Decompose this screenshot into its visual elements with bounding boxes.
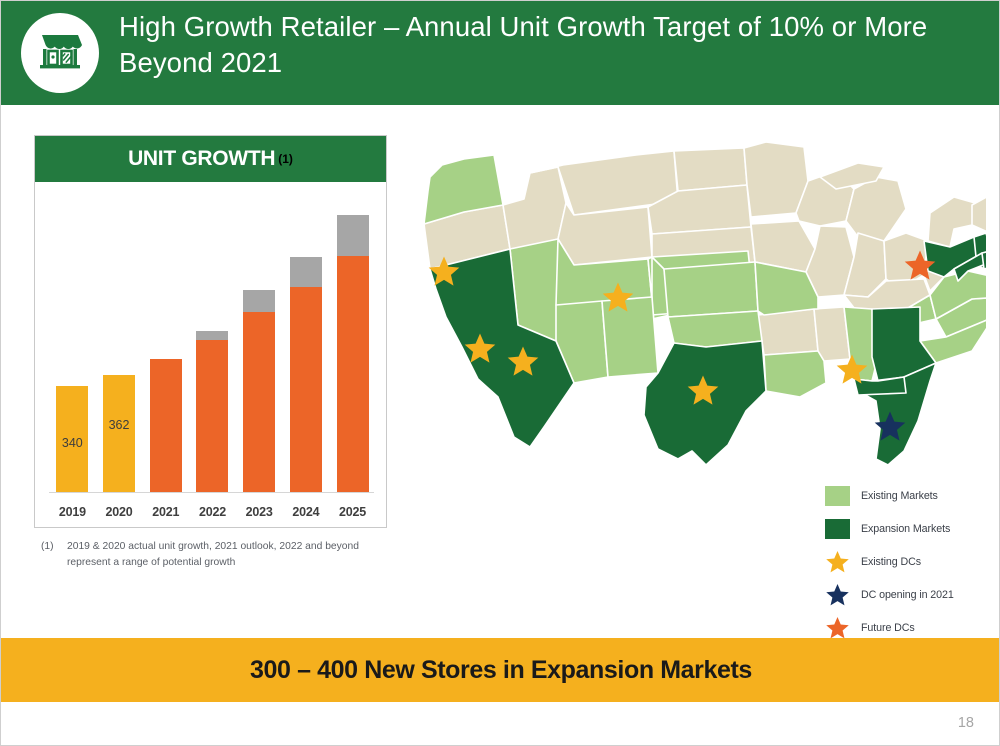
bar-column-2021 [150,190,182,492]
x-axis-labels: 2019 2020 2021 2022 2023 2024 2025 [49,505,376,519]
state-new-england [972,193,986,233]
bar-group: 340 362 [49,190,376,492]
bar-segment-actual-2020 [103,375,135,492]
bottom-banner: 300 – 400 New Stores in Expansion Market… [1,638,1000,702]
legend-label-dc-opening-2021: DC opening in 2021 [861,589,954,601]
bar-column-2023 [243,190,275,492]
bar-value-label-2020: 362 [103,418,135,432]
bar-segment-actual-2021 [150,359,182,492]
state-louisiana [764,351,826,397]
x-tick-2021: 2021 [150,505,182,519]
page-title: High Growth Retailer – Annual Unit Growt… [119,9,979,82]
x-tick-2020: 2020 [103,505,135,519]
bar-segment-range-2024 [290,257,322,287]
state-north-dakota [674,148,747,191]
marker-existing-dc-arizona [506,345,540,384]
page-number: 18 [958,715,974,731]
marker-dc-opening-2021-florida [873,410,907,449]
marker-existing-dc-california-south [463,332,497,371]
x-tick-2019: 2019 [56,505,88,519]
legend-label-expansion-markets: Expansion Markets [861,523,950,535]
footnote-text: 2019 & 2020 actual unit growth, 2021 out… [67,539,401,571]
x-axis-line [49,492,374,493]
bar-value-label-2019: 340 [56,436,88,450]
legend-label-existing-markets: Existing Markets [861,490,938,502]
bar-column-2024 [290,190,322,492]
unit-growth-chart-card: UNIT GROWTH (1) 340 362 [34,135,387,528]
legend-item-existing-markets: Existing Markets [825,479,1000,512]
state-kansas [664,262,758,317]
square-swatch-icon [825,486,850,506]
chart-title: UNIT GROWTH [128,147,275,171]
bar-segment-actual-2025 [337,256,369,492]
bar-chart-plot: 340 362 [35,182,386,527]
x-tick-2025: 2025 [337,505,369,519]
slide: High Growth Retailer – Annual Unit Growt… [0,0,1000,746]
us-map [406,129,986,489]
state-oklahoma [668,311,762,347]
state-michigan [846,177,906,241]
legend-label-future-dcs: Future DCs [861,622,915,634]
bar-column-2019: 340 [56,190,88,492]
bar-segment-actual-2022 [196,340,228,492]
square-swatch-icon [825,519,850,539]
bar-column-2025 [337,190,369,492]
bar-segment-range-2022 [196,331,228,340]
storefront-icon [36,27,84,80]
bar-column-2022 [196,190,228,492]
marker-future-dc-pennsylvania [903,249,937,288]
bar-segment-range-2025 [337,215,369,256]
star-icon [825,582,850,607]
state-arkansas [758,309,818,355]
logo-badge [21,13,99,93]
footnote-marker: (1) [41,539,67,571]
marker-existing-dc-california-north [427,255,461,294]
marker-existing-dc-colorado [601,281,635,320]
bar-segment-actual-2023 [243,312,275,492]
chart-title-footnote-ref: (1) [278,152,293,166]
x-tick-2024: 2024 [290,505,322,519]
slide-header: High Growth Retailer – Annual Unit Growt… [1,1,1000,105]
legend-item-existing-dcs: Existing DCs [825,545,1000,578]
x-tick-2022: 2022 [196,505,228,519]
bar-segment-range-2023 [243,290,275,312]
state-wyoming [558,203,652,265]
banner-text: 300 – 400 New Stores in Expansion Market… [250,656,752,685]
bar-segment-actual-2024 [290,287,322,492]
legend-item-dc-opening-2021: DC opening in 2021 [825,578,1000,611]
state-idaho [503,167,566,249]
bar-column-2020: 362 [103,190,135,492]
star-icon [825,615,850,640]
chart-footnote: (1) 2019 & 2020 actual unit growth, 2021… [41,539,401,571]
x-tick-2023: 2023 [243,505,275,519]
legend-label-existing-dcs: Existing DCs [861,556,921,568]
map-legend: Existing Markets Expansion Markets Exist… [825,479,1000,644]
marker-existing-dc-georgia [835,353,869,392]
legend-item-expansion-markets: Expansion Markets [825,512,1000,545]
star-icon [825,549,850,574]
chart-title-bar: UNIT GROWTH (1) [35,136,386,182]
marker-existing-dc-texas [686,374,720,413]
